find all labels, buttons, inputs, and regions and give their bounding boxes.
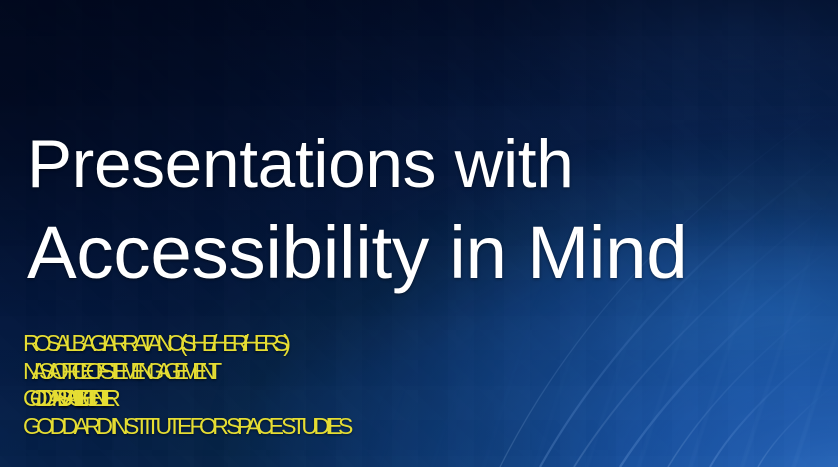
subtitle-line-institute: GODDARD INSTITUTE FOR SPACE STUDIES: [23, 413, 833, 441]
subtitle-line-flight-center: GODDARD SPACE FLIGHT CENTER: [23, 385, 833, 413]
slide-title: Presentations with Accessibility in Mind: [27, 121, 833, 297]
title-line-1: Presentations with: [27, 121, 833, 209]
title-slide: Presentations with Accessibility in Mind…: [0, 0, 838, 467]
subtitle-line-presenter-name: ROSALBA GIARRATANO (SHE/HER/HERS): [23, 330, 833, 358]
slide-subtitle: ROSALBA GIARRATANO (SHE/HER/HERS) NASA O…: [23, 330, 833, 440]
title-line-2: Accessibility in Mind: [27, 209, 833, 297]
subtitle-line-office: NASA OFFICE OF STEM ENGAGEMENT: [23, 358, 833, 386]
